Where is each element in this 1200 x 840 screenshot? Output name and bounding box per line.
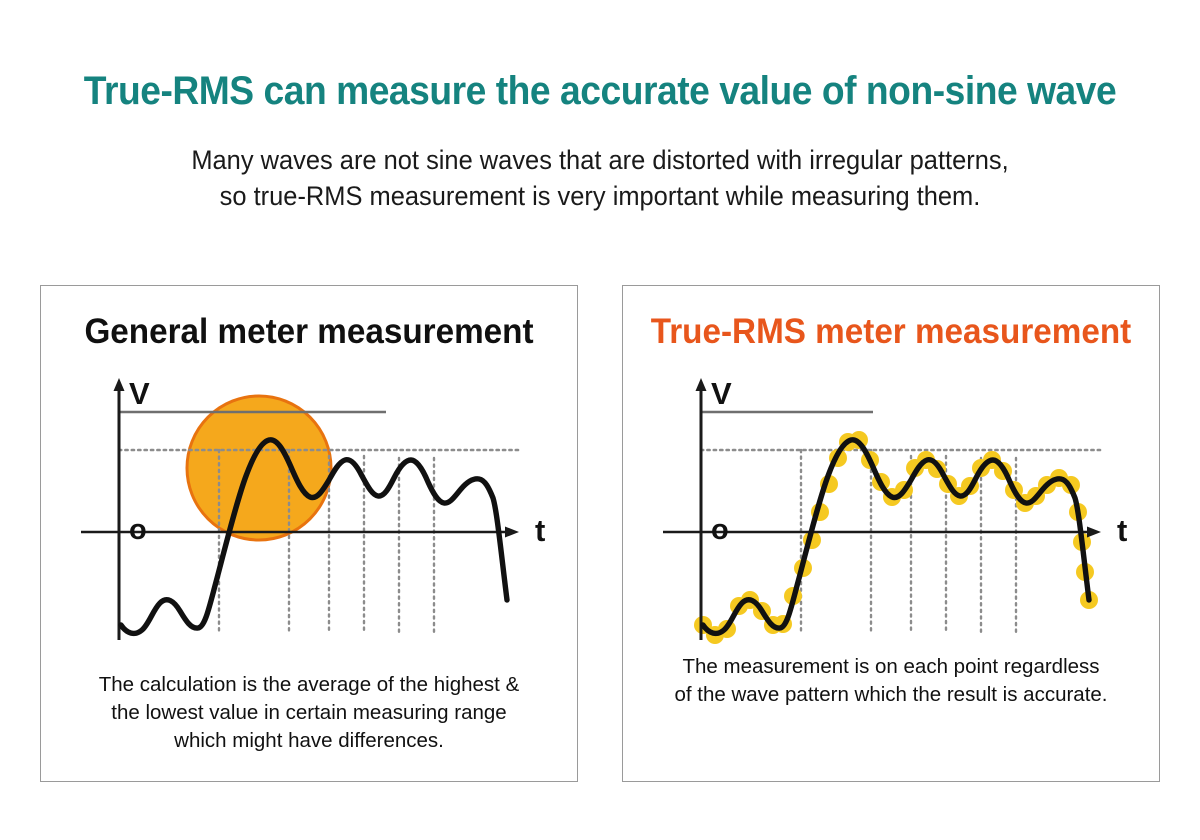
subtitle: Many waves are not sine waves that are d…	[24, 142, 1176, 214]
sample-dots	[694, 431, 1098, 644]
chart-general-meter-waveform	[41, 372, 577, 650]
header: True-RMS can measure the accurate value …	[0, 0, 1200, 214]
x-axis-arrow	[505, 527, 519, 538]
caption-line-1: The calculation is the average of the hi…	[59, 671, 559, 699]
y-axis-arrow	[114, 378, 125, 391]
panel-title-true-rms-meter: True-RMS meter measurement	[636, 312, 1145, 352]
highlight-circle	[187, 396, 331, 540]
subtitle-line-1: Many waves are not sine waves that are d…	[24, 142, 1176, 178]
x-axis-label: t	[535, 513, 545, 549]
chart-true-rms-waveform	[623, 372, 1159, 650]
y-axis-label: V	[711, 376, 732, 412]
y-axis-label: V	[129, 376, 150, 412]
caption-line-1: The measurement is on each point regardl…	[641, 653, 1141, 681]
panel-general-meter: General meter measurement	[40, 285, 578, 782]
caption-line-2: of the wave pattern which the result is …	[641, 681, 1141, 709]
panel-title-general-meter: General meter measurement	[54, 312, 563, 352]
panel-caption-general-meter: The calculation is the average of the hi…	[59, 671, 559, 755]
panel-caption-true-rms-meter: The measurement is on each point regardl…	[641, 653, 1141, 709]
panel-true-rms-meter: True-RMS meter measurement	[622, 285, 1160, 782]
origin-label: o	[129, 514, 147, 547]
x-axis-label: t	[1117, 513, 1127, 549]
subtitle-line-2: so true-RMS measurement is very importan…	[24, 178, 1176, 214]
page-title: True-RMS can measure the accurate value …	[42, 68, 1158, 114]
caption-line-2: the lowest value in certain measuring ra…	[59, 699, 559, 727]
caption-line-3: which might have differences.	[59, 727, 559, 755]
origin-label: o	[711, 514, 729, 547]
x-axis-arrow	[1087, 527, 1101, 538]
y-axis-arrow	[696, 378, 707, 391]
